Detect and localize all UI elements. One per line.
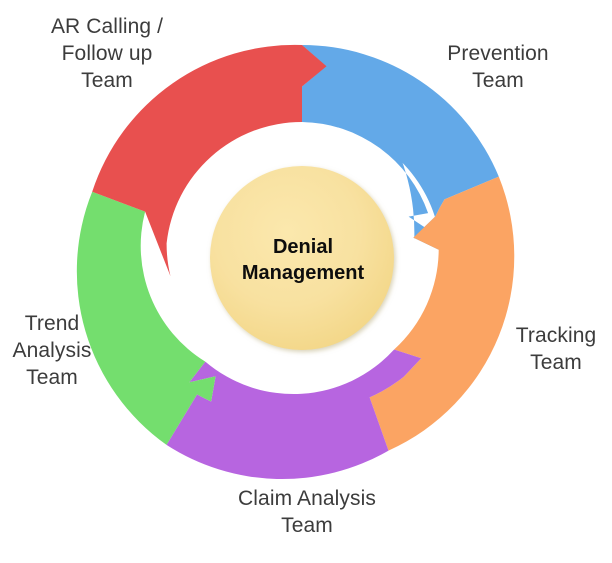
segment-label-ar-calling: AR Calling / Follow up Team bbox=[14, 14, 200, 95]
segment-label-trend-analysis: Trend Analysis Team bbox=[0, 311, 104, 392]
center-hub-circle[interactable] bbox=[210, 166, 394, 350]
segment-label-prevention: Prevention Team bbox=[404, 41, 592, 95]
center-hub-group bbox=[210, 166, 394, 350]
segment-label-tracking: Tracking Team bbox=[500, 323, 612, 377]
denial-management-cycle-diagram: Denial Management AR Calling / Follow up… bbox=[0, 0, 612, 563]
segment-label-claim-analysis: Claim Analysis Team bbox=[196, 486, 418, 540]
ring-segment-tracking[interactable] bbox=[370, 177, 515, 451]
